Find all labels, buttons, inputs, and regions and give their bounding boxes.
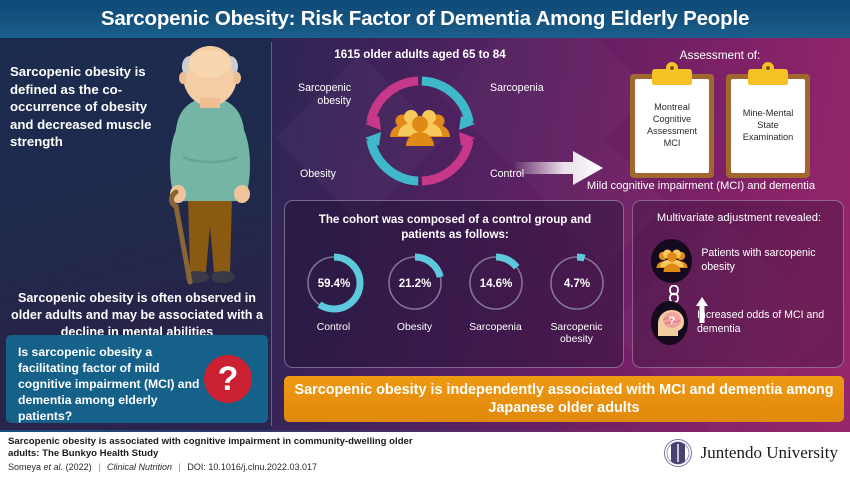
donut-ring: 4.7%	[545, 251, 609, 315]
citation-separator: |	[94, 462, 104, 472]
cohort-composition-panel: The cohort was composed of a control gro…	[284, 200, 624, 368]
assessment-title: Assessment of:	[600, 48, 840, 62]
donut-sarcopenic-obesity: 4.7%Sarcopenic obesity	[539, 251, 615, 363]
circle-label-sarcopenic-obesity: Sarcopenic obesity	[289, 82, 351, 107]
citation-separator: |	[175, 462, 185, 472]
clipboard-text: Montreal Cognitive Assessment MCI	[639, 102, 705, 150]
donut-value: 21.2%	[398, 278, 431, 290]
conclusion-banner: Sarcopenic obesity is independently asso…	[284, 376, 844, 422]
clipboard-hole-icon	[766, 66, 770, 70]
cohort-cycle-diagram	[355, 66, 485, 196]
juntendo-seal-icon	[663, 438, 693, 468]
elderly-man-illustration	[150, 46, 270, 296]
cohort-panel-title: The cohort was composed of a control gro…	[307, 212, 603, 243]
definition-text: Sarcopenic obesity is defined as the co-…	[10, 63, 160, 151]
donut-sarcopenia: 14.6%Sarcopenia	[458, 251, 534, 363]
citation-journal: Clinical Nutrition	[107, 462, 172, 472]
multivariate-row-odds: ? Increased odds of MCI and dementia	[651, 301, 843, 345]
circle-label-sarcopenia: Sarcopenia	[490, 82, 544, 95]
donut-value: 4.7%	[563, 278, 589, 290]
clipboard-paper: Mine-Mental State Examination	[731, 79, 805, 173]
page-title: Sarcopenic Obesity: Risk Factor of Demen…	[101, 7, 749, 31]
brain-head-icon: ?	[651, 301, 688, 345]
donut-control: 59.4%Control	[296, 251, 372, 363]
research-question-box: Is sarcopenic obesity a facilitating fac…	[6, 335, 268, 423]
citation-doi[interactable]: DOI: 10.1016/j.clnu.2022.03.017	[187, 462, 317, 472]
citation-year: (2022)	[66, 462, 92, 472]
multivariate-panel: Multivariate adjustment revealed:	[632, 200, 844, 368]
citation-title: Sarcopenic obesity is associated with co…	[8, 436, 438, 461]
donut-label: Control	[296, 322, 372, 334]
svg-text:?: ?	[669, 315, 676, 327]
donut-obesity: 21.2%Obesity	[377, 251, 453, 363]
multivariate-row-patients: Patients with sarcopenic obesity	[651, 239, 843, 283]
research-question-text: Is sarcopenic obesity a facilitating fac…	[18, 344, 206, 424]
question-mark-icon: ?	[204, 355, 252, 403]
clipboard-hole-icon	[670, 66, 674, 70]
donut-label: Obesity	[377, 322, 453, 334]
citation-meta: Someya et al. (2022) | Clinical Nutritio…	[8, 462, 317, 472]
multivariate-row1-text: Patients with sarcopenic obesity	[701, 247, 843, 275]
assessment-clipboards: Montreal Cognitive Assessment MCI Mine-M…	[607, 66, 833, 178]
donut-ring: 59.4%	[302, 251, 366, 315]
university-name: Juntendo University	[701, 443, 838, 463]
cohort-size-title: 1615 older adults aged 65 to 84	[290, 48, 550, 61]
clipboard-paper: Montreal Cognitive Assessment MCI	[635, 79, 709, 173]
mci-caption: Mild cognitive impairment (MCI) and deme…	[556, 180, 846, 192]
main-canvas: Sarcopenic obesity is defined as the co-…	[0, 38, 850, 430]
donut-label: Sarcopenic obesity	[539, 322, 615, 347]
donut-label: Sarcopenia	[458, 322, 534, 334]
circle-label-obesity: Obesity	[300, 168, 336, 181]
up-arrow-icon	[696, 297, 708, 323]
university-logo: Juntendo University	[663, 438, 838, 468]
donut-ring: 21.2%	[383, 251, 447, 315]
clipboard-text: Mine-Mental State Examination	[735, 108, 801, 144]
citation-authors: Someya	[8, 462, 41, 472]
footer: Sarcopenic obesity is associated with co…	[0, 430, 850, 478]
conclusion-text: Sarcopenic obesity is independently asso…	[284, 381, 844, 417]
donut-value: 14.6%	[479, 278, 512, 290]
footer-rule	[0, 430, 850, 432]
citation-etal: et al.	[44, 462, 64, 472]
observation-text: Sarcopenic obesity is often observed in …	[6, 290, 268, 341]
people-group-icon	[651, 239, 692, 283]
header-banner: Sarcopenic Obesity: Risk Factor of Demen…	[0, 0, 850, 38]
multivariate-row2-text: Increased odds of MCI and dementia	[697, 309, 843, 337]
infographic-page: Sarcopenic Obesity: Risk Factor of Demen…	[0, 0, 850, 478]
panel-divider	[271, 42, 272, 426]
clipboard-mmse: Mine-Mental State Examination	[726, 66, 810, 178]
donut-chart-group: 59.4%Control21.2%Obesity14.6%Sarcopenia4…	[293, 251, 617, 363]
donut-ring: 14.6%	[464, 251, 528, 315]
donut-value: 59.4%	[317, 278, 350, 290]
multivariate-title: Multivariate adjustment revealed:	[641, 212, 837, 224]
clipboard-moca: Montreal Cognitive Assessment MCI	[630, 66, 714, 178]
